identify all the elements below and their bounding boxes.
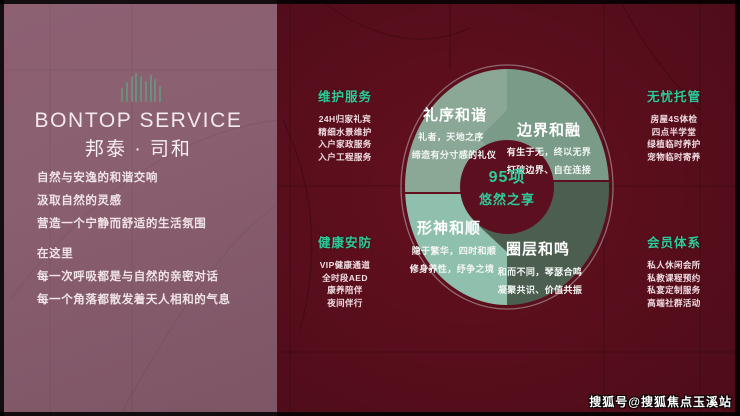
brand-name-en: BONTOP SERVICE — [0, 109, 277, 133]
service-item: 康养陪伴 — [293, 284, 397, 297]
slide-canvas: BONTOP SERVICE 邦泰 · 司和 自然与安逸的和谐交响 汲取自然的灵… — [0, 0, 740, 416]
service-item: 宠物临时寄养 — [622, 151, 726, 164]
quadrant-title-top-right: 边界和融 — [516, 121, 581, 139]
bamboo-slip-logo-icon — [121, 72, 161, 102]
service-item: 高端社群活动 — [622, 297, 726, 310]
tagline-line: 汲取自然的灵感 — [37, 195, 267, 208]
service-item: 四点半学堂 — [622, 126, 726, 139]
tagline-line: 在这里 — [37, 248, 267, 261]
service-item: 入户工程服务 — [293, 151, 397, 164]
service-item: 全时段AED — [293, 272, 397, 285]
watermark: 搜狐号@搜狐焦点玉溪站 — [589, 393, 732, 410]
quadrant-line: 有生于无，终以无界 — [507, 146, 592, 157]
edge-top — [0, 0, 740, 4]
service-group-maintenance: 维护服务 24H归家礼宾 精细水景维护 入户家政服务 入户工程服务 — [293, 86, 397, 163]
tagline-line: 每一个角落都散发着天人相和的气息 — [37, 294, 267, 307]
service-item: 房屋4S体检 — [622, 113, 726, 126]
service-group-title: 维护服务 — [293, 86, 397, 105]
quadrant-line: 凝聚共识、价值共振 — [498, 284, 583, 295]
tagline-line: 每一次呼吸都是与自然的亲密对话 — [37, 271, 267, 284]
service-item: 绿植临时养护 — [622, 138, 726, 151]
pinwheel-diagram: 礼序和谐 礼者，天地之序 缔造有分寸感的礼仪 边界和融 有生于无，终以无界 打破… — [397, 62, 617, 312]
service-group-title: 无忧托管 — [622, 86, 726, 105]
hub-subtitle: 悠然之享 — [478, 192, 535, 207]
tagline-block: 自然与安逸的和谐交响 汲取自然的灵感 营造一个宁静而舒适的生活氛围 在这里 每一… — [37, 172, 267, 317]
service-item: 入户家政服务 — [293, 138, 397, 151]
tagline-line: 自然与安逸的和谐交响 — [37, 172, 267, 185]
quadrant-line: 隐于繁华，四时和顺 — [412, 245, 497, 256]
service-group-title: 健康安防 — [293, 232, 397, 251]
service-group-title: 会员体系 — [622, 232, 726, 251]
quadrant-title-bottom-right: 圈层和鸣 — [506, 240, 570, 258]
service-item: 私宴定制服务 — [622, 284, 726, 297]
quadrant-line: 礼者，天地之序 — [418, 131, 484, 142]
quadrant-line: 修身养性，纾争之境 — [409, 263, 495, 274]
quadrant-title-bottom-left: 形神和顺 — [417, 219, 481, 237]
edge-left — [0, 0, 4, 416]
tagline-line: 营造一个宁静而舒适的生活氛围 — [37, 218, 267, 231]
left-text-panel: BONTOP SERVICE 邦泰 · 司和 自然与安逸的和谐交响 汲取自然的灵… — [0, 0, 277, 416]
service-group-worry-free-trusteeship: 无忧托管 房屋4S体检 四点半学堂 绿植临时养护 宠物临时寄养 — [622, 86, 726, 163]
service-item: VIP健康通道 — [293, 259, 397, 272]
service-group-health-security: 健康安防 VIP健康通道 全时段AED 康养陪伴 夜间伴行 — [293, 232, 397, 309]
service-item: 精细水景维护 — [293, 126, 397, 139]
service-item: 私人休闲会所 — [622, 259, 726, 272]
brand-name-cn: 邦泰 · 司和 — [0, 134, 277, 161]
hub-count: 95项 — [489, 168, 526, 186]
quadrant-line: 和而不同，琴瑟合鸣 — [497, 266, 583, 277]
quadrant-title-top-left: 礼序和谐 — [423, 106, 487, 124]
service-item: 夜间伴行 — [293, 297, 397, 310]
service-item: 私教课程预约 — [622, 272, 726, 285]
quadrant-line: 缔造有分寸感的礼仪 — [412, 149, 497, 160]
service-group-membership: 会员体系 私人休闲会所 私教课程预约 私宴定制服务 高端社群活动 — [622, 232, 726, 309]
edge-bottom — [0, 412, 740, 416]
edge-right — [735, 0, 740, 416]
service-item: 24H归家礼宾 — [293, 113, 397, 126]
